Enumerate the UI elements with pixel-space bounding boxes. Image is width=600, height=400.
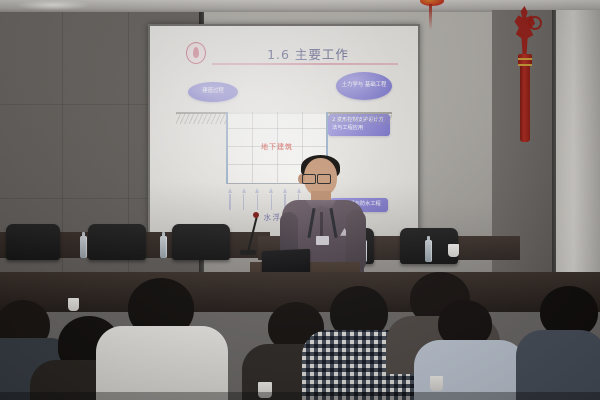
paper-cup xyxy=(448,244,459,257)
bubble-soil-mechanics: 土力学与 基础工程 xyxy=(336,72,392,100)
structural-pillar xyxy=(556,10,600,300)
title-underline xyxy=(212,63,398,65)
eyeglasses-icon xyxy=(302,174,332,182)
id-badge xyxy=(316,236,329,245)
water-bottle xyxy=(160,236,167,258)
university-seal-logo xyxy=(186,42,206,64)
underground-building-label: 地下建筑 xyxy=(226,142,328,152)
paper-cup xyxy=(68,298,79,311)
conference-chair xyxy=(88,224,146,260)
presenter-shirt-placket xyxy=(320,212,323,238)
ceiling-light xyxy=(18,0,88,10)
red-lantern-decoration xyxy=(418,0,446,10)
paper-cup xyxy=(430,376,443,391)
table-microphone-head xyxy=(253,212,259,218)
soil-hatch-right xyxy=(326,113,392,124)
foreground-shadow xyxy=(0,392,600,400)
conference-chair xyxy=(6,224,60,260)
water-bottle xyxy=(425,240,432,262)
conference-chair xyxy=(172,224,230,260)
chinese-knot-decoration xyxy=(508,2,542,142)
water-bottle xyxy=(80,236,87,258)
table-microphone-base xyxy=(240,250,256,255)
conference-room-photo: 1.6 主要工作 建造过程 土力学与 基础工程 2.变形控制支护设计方法与工程应… xyxy=(0,0,600,400)
soil-hatch-left xyxy=(176,113,228,124)
bubble-construction-process: 建造过程 xyxy=(188,82,238,102)
slide-title: 1.6 主要工作 xyxy=(228,44,388,63)
